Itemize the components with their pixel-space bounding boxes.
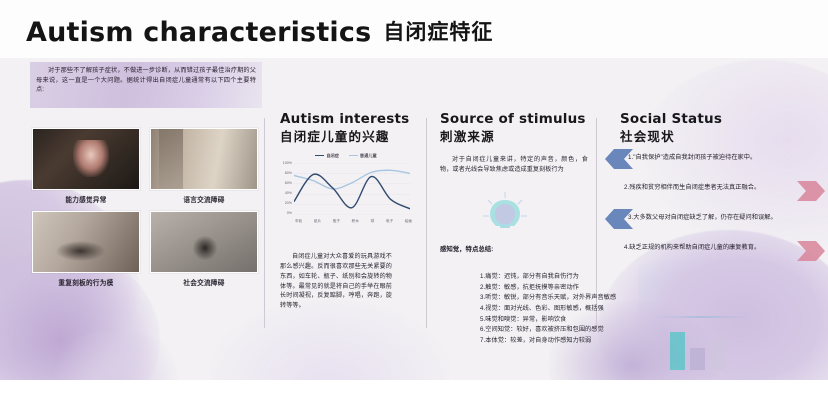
- x-tick: 球: [371, 219, 375, 224]
- stimulus-paragraph: 对于自闭症儿童来讲，特定的声音，颜色，食物，或者光线会导致焦虑或造成重复刻板行为: [440, 155, 588, 175]
- list-item: 1.痛觉：迟钝，部分有自我自伤行为: [480, 272, 650, 283]
- child-repetitive-photo: [32, 211, 140, 273]
- column-autism-interests: Autism interests 自闭症儿童的兴趣 自闭症 普通儿童 100% …: [280, 112, 420, 231]
- chart-legend: 自闭症 普通儿童: [280, 153, 412, 159]
- x-tick: 积木: [352, 219, 359, 224]
- child-social-photo: [150, 211, 258, 273]
- photo-caption: 社会交流障碍: [150, 277, 258, 287]
- decoration-bar: [670, 332, 685, 370]
- interests-paragraph: 自闭症儿童对大众喜爱的玩具游戏不那么感兴趣。反而很喜欢那些无关紧要的东西，如车轮…: [280, 252, 392, 311]
- page-title: Autism characteristics 自闭症特征: [26, 16, 493, 48]
- brain-stimulus-icon: [478, 190, 532, 238]
- title-english: Autism characteristics: [26, 17, 371, 48]
- photo-grid: 能力感觉异常 语言交流障碍 重复刻板的行为模 社会交流障碍: [32, 128, 258, 294]
- child-sensory-photo: [32, 128, 140, 190]
- legend-label: 普通儿童: [360, 153, 377, 158]
- x-tick: 车轮: [295, 219, 302, 224]
- list-item: 4.缺乏正规的机构来帮助自闭症儿童的康复教育。: [604, 238, 826, 268]
- legend-entry-series-2: 普通儿童: [349, 153, 377, 159]
- list-item: 1."自我保护"造成自我封闭孩子被迫待在家中。: [604, 148, 826, 178]
- bar-chart-decoration: [670, 312, 742, 370]
- column-social-status: Social Status 社会现状: [620, 112, 820, 145]
- social-item-text: 4.缺乏正规的机构来帮助自闭症儿童的康复教育。: [624, 244, 820, 253]
- chart-plot-area: 100% 80% 60% 40% 20% 0%: [280, 161, 412, 223]
- chart-x-axis: 车轮 纸片 瓶子 积木 球 电子 绘画: [295, 219, 412, 224]
- interests-title-en: Autism interests: [280, 112, 420, 128]
- stimulus-list-title: 感知觉，特点总结:: [440, 244, 493, 253]
- photo-cell: 语言交流障碍: [150, 128, 258, 204]
- photo-caption: 重复刻板的行为模: [32, 277, 140, 287]
- stimulus-title-en: Source of stimulus: [440, 112, 600, 128]
- social-item-text: 1."自我保护"造成自我封闭孩子被迫待在家中。: [628, 154, 824, 163]
- chart-series-canvas: [294, 163, 410, 215]
- legend-entry-series-1: 自闭症: [315, 153, 339, 159]
- photo-cell: 重复刻板的行为模: [32, 211, 140, 287]
- list-item: 2.残疾和贫穷相伴而生自闭症患者无法真正融合。: [604, 178, 826, 208]
- x-tick: 电子: [386, 219, 393, 224]
- y-tick: 100%: [283, 161, 292, 165]
- column-source-of-stimulus: Source of stimulus 刺激来源 对于自闭症儿童来讲，特定的声音，…: [440, 112, 600, 174]
- chart-y-axis: 100% 80% 60% 40% 20% 0%: [280, 161, 293, 215]
- list-item: 6.空间知觉：较好，喜欢被挤压和包围的感觉: [480, 325, 650, 336]
- intro-paragraph: 对于那些不了解孩子症状，不做进一步诊断，从而错过孩子最佳治疗期的父母来说，这一直…: [30, 62, 262, 95]
- chart-svg: [294, 163, 410, 215]
- photo-caption: 语言交流障碍: [150, 194, 258, 204]
- stimulus-list: 1.痛觉：迟钝，部分有自我自伤行为 2.触觉：敏感，抗拒抚摸等亲密动作 3.听觉…: [440, 272, 650, 347]
- decoration-bar: [710, 340, 725, 370]
- title-chinese: 自闭症特征: [383, 16, 493, 48]
- decoration-bar: [690, 348, 705, 370]
- y-tick: 0%: [287, 211, 292, 215]
- column-divider-1: [264, 118, 265, 328]
- list-item: 4.视觉：面对光线、色彩、图形敏感，概括强: [480, 304, 650, 315]
- x-tick: 绘画: [405, 219, 412, 224]
- x-tick: 瓶子: [333, 219, 340, 224]
- y-tick: 60%: [285, 181, 292, 185]
- column-divider-2: [426, 118, 427, 328]
- photo-cell: 社会交流障碍: [150, 211, 258, 287]
- y-tick: 40%: [285, 191, 292, 195]
- list-item: 7.本体觉：较差，对自身动作感知力较弱: [480, 336, 650, 347]
- legend-label: 自闭症: [326, 153, 339, 158]
- child-language-photo: [150, 128, 258, 190]
- y-tick: 20%: [285, 201, 292, 205]
- list-item: 2.触觉：敏感，抗拒抚摸等亲密动作: [480, 283, 650, 294]
- photo-cell: 能力感觉异常: [32, 128, 140, 204]
- social-status-list: 1."自我保护"造成自我封闭孩子被迫待在家中。 2.残疾和贫穷相伴而生自闭症患者…: [604, 148, 826, 268]
- social-title-en: Social Status: [620, 112, 820, 128]
- slide-root: Autism characteristics 自闭症特征 对于那些不了解孩子症状…: [0, 0, 828, 414]
- list-item: 3.大多数父母对自闭症缺乏了解，仍存在疑问和误解。: [604, 208, 826, 238]
- social-title-cn: 社会现状: [620, 129, 820, 145]
- interests-title-cn: 自闭症儿童的兴趣: [280, 129, 420, 145]
- photo-caption: 能力感觉异常: [32, 194, 140, 204]
- x-tick: 纸片: [314, 219, 321, 224]
- stimulus-title-cn: 刺激来源: [440, 129, 600, 145]
- social-item-text: 2.残疾和贫穷相伴而生自闭症患者无法真正融合。: [624, 184, 820, 193]
- social-item-text: 3.大多数父母对自闭症缺乏了解，仍存在疑问和误解。: [628, 214, 824, 223]
- list-item: 5.味觉和嗅觉：异常，影响饮食: [480, 315, 650, 326]
- y-tick: 80%: [285, 171, 292, 175]
- background-footer-strip: [0, 380, 828, 414]
- interests-line-chart: 自闭症 普通儿童 100% 80% 60% 40% 20% 0%: [280, 153, 412, 231]
- list-item: 3.听觉：敏锐，部分有音乐天赋，对外界声音敏感: [480, 293, 650, 304]
- intro-block: 对于那些不了解孩子症状，不做进一步诊断，从而错过孩子最佳治疗期的父母来说，这一直…: [30, 62, 262, 108]
